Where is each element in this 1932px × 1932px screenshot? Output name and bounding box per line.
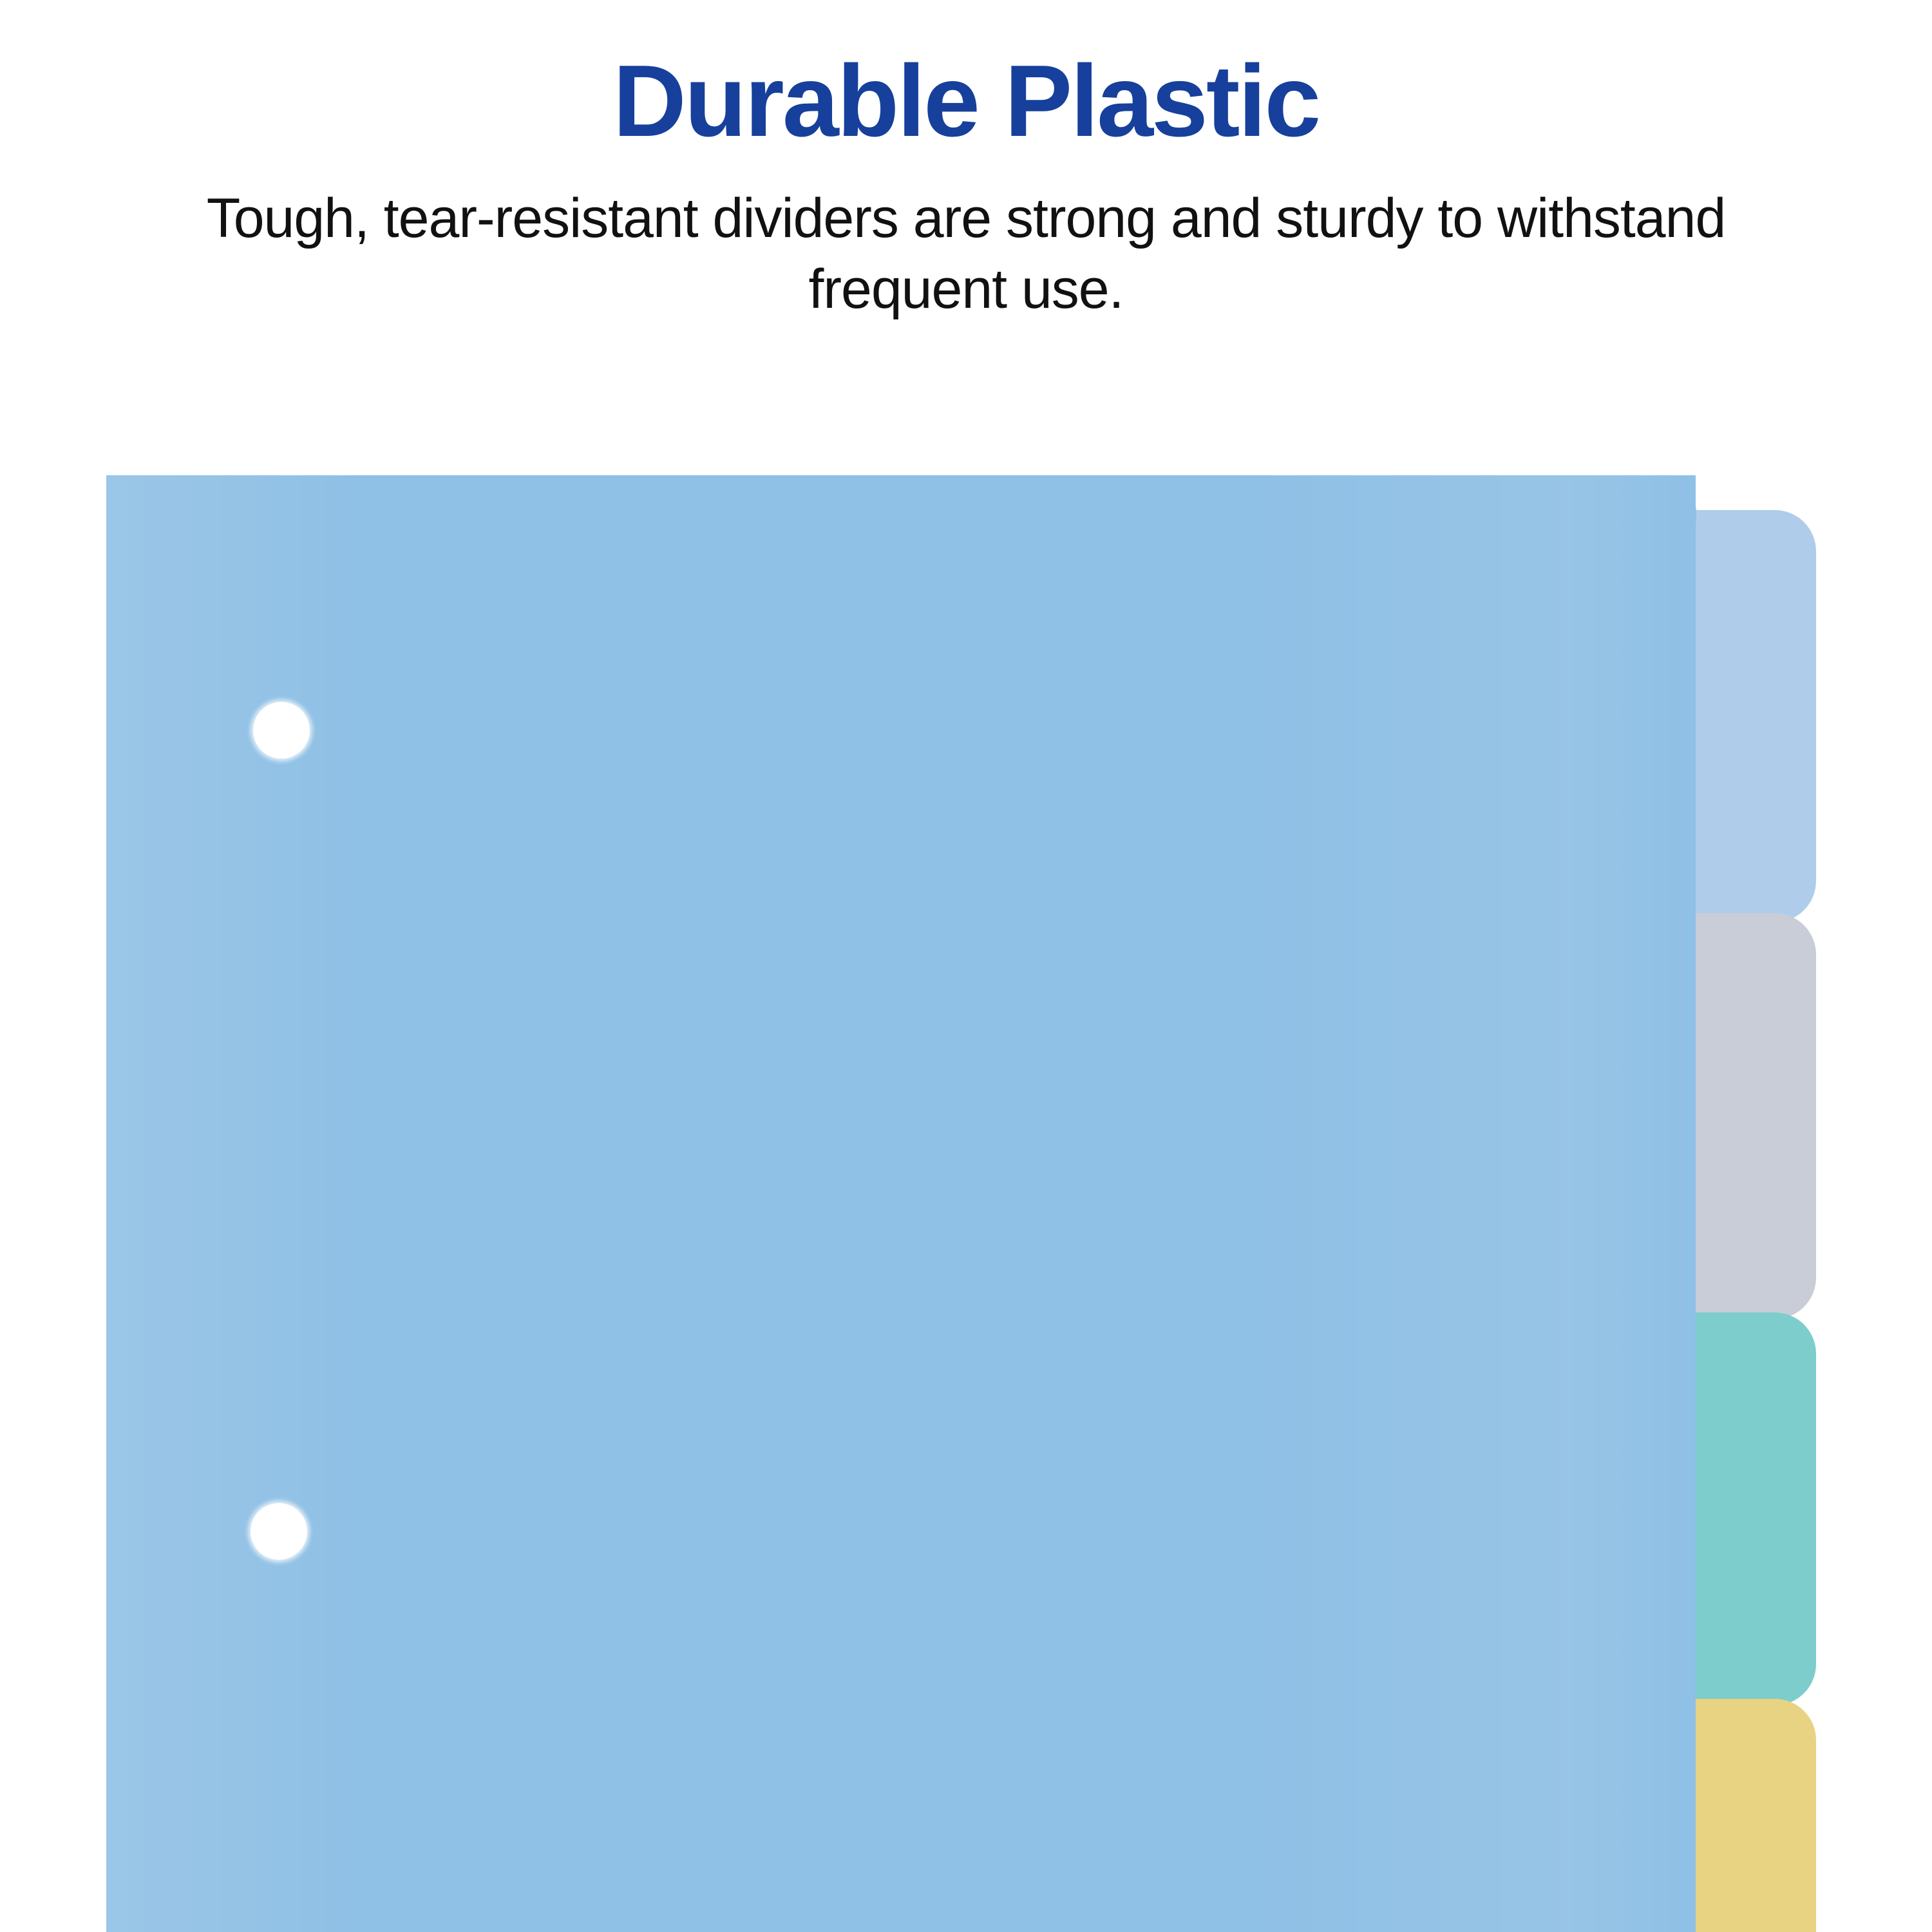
marketing-text-block: Durable Plastic Tough, tear-resistant di…	[0, 0, 1932, 325]
subtitle: Tough, tear-resistant dividers are stron…	[0, 152, 1932, 325]
bottom-punch-hole	[251, 1503, 307, 1560]
subtitle-line-1: Tough, tear-resistant dividers are stron…	[207, 187, 1423, 249]
top-punch-hole	[253, 702, 310, 759]
headline: Durable Plastic	[0, 0, 1932, 152]
product-photo	[0, 451, 1932, 1932]
front-divider-sheet	[106, 475, 1696, 1932]
product-feature-image: Durable Plastic Tough, tear-resistant di…	[0, 0, 1932, 1932]
